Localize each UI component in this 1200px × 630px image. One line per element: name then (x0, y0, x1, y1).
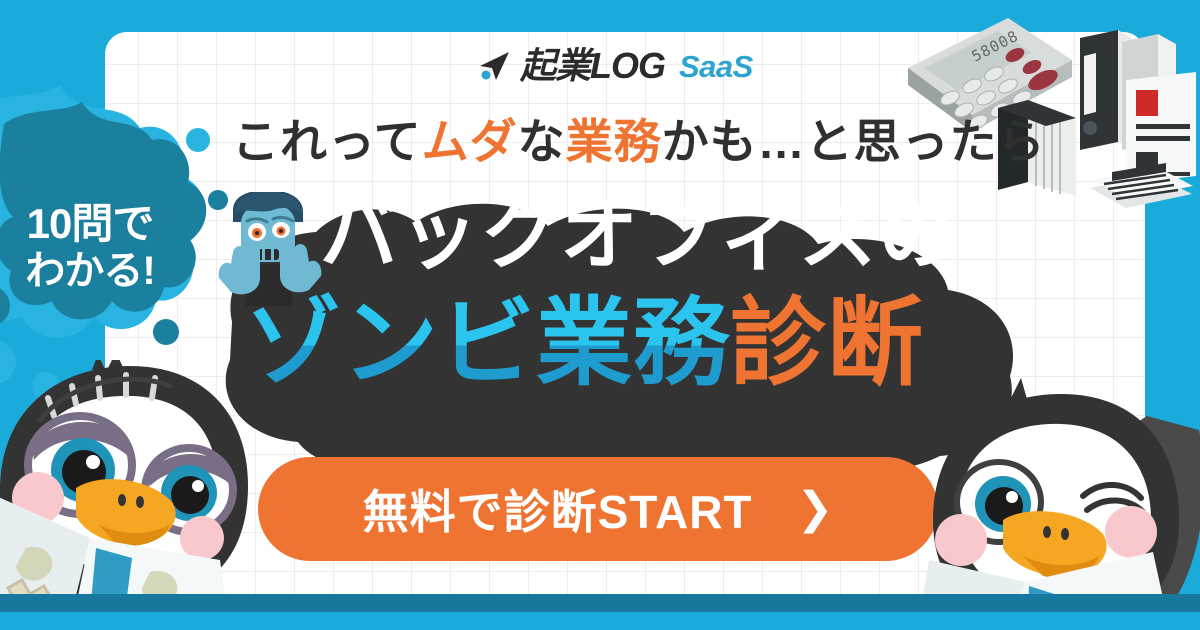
badge-line-1: 10問で (0, 200, 190, 248)
badge-line-2: わかる! (0, 248, 190, 294)
tagline: これってムダな業務かも…と思ったら (232, 115, 972, 169)
bottom-band-light (0, 612, 1200, 630)
headline-line-1-text: バックオフィスの (320, 191, 958, 279)
tagline-highlight-2: 業務 (566, 115, 662, 168)
tagline-part-2: な (518, 115, 566, 168)
tagline-highlight-1: ムダ (422, 115, 518, 168)
logo-suffix-text: SaaS (679, 51, 753, 82)
zombie-penguin-illustration (0, 360, 280, 630)
question-count-badge: 10問で わかる! (0, 200, 190, 294)
headline-accent-text: 診断 (730, 290, 924, 397)
headline-primary-text: ゾンビ業務 (245, 290, 730, 397)
headline-line-2: ゾンビ業務診断 (245, 296, 924, 392)
free-diagnosis-start-button[interactable]: 無料で診断START ❯ (258, 457, 938, 561)
hero-banner: 58008 (0, 0, 1200, 630)
tagline-part-3: かも…と思ったら (662, 115, 1046, 168)
paper-plane-icon (478, 49, 512, 83)
logo-brand-text: 起業LOG (520, 48, 665, 84)
chevron-right-icon: ❯ (797, 487, 834, 531)
healthy-penguin-illustration (915, 370, 1200, 630)
bottom-band-dark (0, 594, 1200, 612)
kigyo-log-saas-logo[interactable]: 起業LOG SaaS (478, 48, 753, 84)
cta-label: 無料で診断START (363, 476, 753, 542)
tagline-part-1: これって (232, 115, 422, 168)
headline-line-1: バックオフィスの (320, 196, 958, 274)
